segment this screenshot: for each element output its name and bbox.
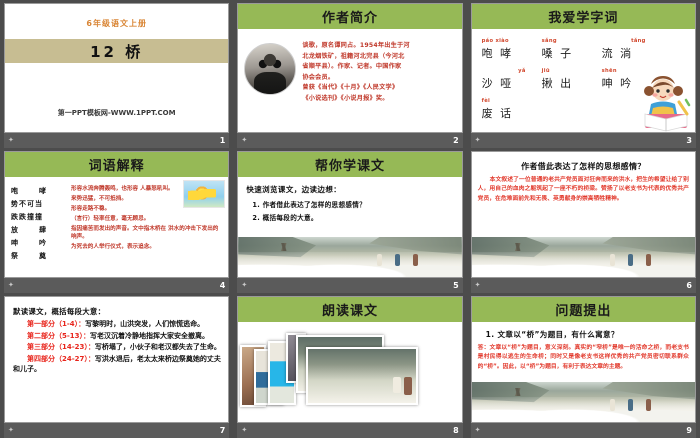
instruction-text: 快速浏览课文，边读边想： bbox=[246, 184, 453, 195]
slide-3-footer: ✦ 3 bbox=[471, 133, 696, 148]
slide-6-theme-answer[interactable]: 作者借此表达了怎样的思想感情？ 本文叙述了一位普通的老共产党员面对狂奔而来的洪水… bbox=[471, 151, 696, 278]
photo-thumb-front bbox=[306, 347, 418, 405]
slide-3-vocabulary[interactable]: 我爱学字词 páo xiào 咆 哮 sǎng 嗓 子 tǎng 流 淌 bbox=[471, 3, 696, 133]
wave-shape bbox=[238, 252, 461, 277]
slide-number: 5 bbox=[453, 282, 459, 290]
definition: 指因痛苦而发出的声音。文中指木桥在 洪水的冲击下发出的响声。 bbox=[71, 226, 223, 241]
part-text: 写桥塌了，小伙子和老汉都失去了生命。 bbox=[95, 343, 221, 351]
vocab-word: 废 话 bbox=[482, 105, 524, 121]
vocab-item: shēn 呻 吟 bbox=[602, 68, 644, 91]
instruction-text: 默读课文，概括每段大意： bbox=[13, 306, 221, 317]
slide-cell-1[interactable]: 6年级语文上册 12 桥 第一PPT模板网-WWW.1PPT.COM ✦ 1 bbox=[0, 0, 233, 148]
person-figure bbox=[646, 399, 651, 411]
vocab-item: páo xiào 咆 哮 bbox=[482, 38, 524, 61]
girl-reading-icon bbox=[639, 74, 693, 132]
slide-5-study-guide[interactable]: 帮你学课文 快速浏览课文，边读边想： 1. 作者借此表达了怎样的思想感情？ 2.… bbox=[237, 151, 462, 278]
person-figure bbox=[628, 254, 633, 266]
bio-line: 《小说选刊》《小说月报》奖。 bbox=[302, 94, 455, 104]
outline-item: 第一部分（1-4）：写黎明时，山洪突发，人们惊慌逃命。 bbox=[13, 319, 221, 330]
pinyin: tǎng bbox=[604, 38, 646, 44]
answer-paragraph: 答：文章以“桥”为题目，意义深刻。真实的“窄桥”是唯一的活命之桥，而老支书是村民… bbox=[472, 344, 695, 372]
slide-header-title: 我爱学字词 bbox=[548, 7, 618, 26]
person-figure bbox=[610, 399, 615, 411]
branch-shape bbox=[481, 388, 557, 397]
word-term: 祭 奠 bbox=[11, 251, 67, 261]
vocab-item: fèi 废 话 bbox=[482, 98, 524, 121]
word-term: 放 肆 bbox=[11, 225, 67, 235]
star-icon: ✦ bbox=[241, 137, 247, 144]
bio-line: 谈歌，原名谭同占。1954年出生于河 bbox=[302, 41, 455, 51]
vocab-item: jiū 揪 出 bbox=[542, 68, 584, 91]
pinyin: páo xiào bbox=[482, 38, 524, 44]
pinyin: sǎng bbox=[542, 38, 584, 44]
answer-text: 本文叙述了一位普通的老共产党员面对狂奔而来的洪水，把生的希望让给了别人，用自己的… bbox=[478, 176, 689, 204]
slide-subtitle: 6年级语文上册 bbox=[5, 18, 228, 29]
outline-item: 第四部分（24-27）：写洪水退后，老太太来桥边祭奠她的丈夫和儿子。 bbox=[13, 354, 221, 375]
slide-cell-2[interactable]: 作者简介 谈歌，原名谭同占。1954年出生于河 北龙烟铁矿，祖籍河北完县（今河北… bbox=[233, 0, 466, 148]
word-term: 跌跌撞撞 bbox=[11, 212, 67, 222]
word-term: 势不可当 bbox=[11, 199, 67, 209]
slide-number: 3 bbox=[686, 137, 692, 145]
flood-illustration bbox=[238, 237, 461, 277]
vocab-word: 揪 出 bbox=[542, 75, 584, 91]
slide-thumbnail-grid: 6年级语文上册 12 桥 第一PPT模板网-WWW.1PPT.COM ✦ 1 作… bbox=[0, 0, 700, 438]
person-figure bbox=[413, 254, 418, 266]
slide-7-outline[interactable]: 默读课文，概括每段大意： 第一部分（1-4）：写黎明时，山洪突发，人们惊慌逃命。… bbox=[4, 296, 229, 423]
slide-header-band: 问题提出 bbox=[472, 297, 695, 323]
pinyin: shēn bbox=[602, 68, 644, 74]
bio-line: 省顺平县）。作家、记者。中国作家 bbox=[302, 62, 455, 72]
author-bio: 谈歌，原名谭同占。1954年出生于河 北龙烟铁矿，祖籍河北完县（今河北 省顺平县… bbox=[302, 37, 455, 128]
question-item: 2. 概括每段的大意。 bbox=[252, 212, 453, 222]
part-label: 第一部分（1-4）： bbox=[27, 320, 85, 328]
pinyin: fèi bbox=[482, 98, 524, 104]
question-text: 1. 文章以“桥”为题目，有什么寓意？ bbox=[486, 329, 687, 340]
definition: （言行）轻率任意，毫无顾忌。 bbox=[71, 216, 223, 224]
slide-cell-3[interactable]: 我爱学字词 páo xiào 咆 哮 sǎng 嗓 子 tǎng 流 淌 bbox=[467, 0, 700, 148]
photo-stack bbox=[238, 323, 461, 422]
vocab-item: tǎng 流 淌 bbox=[602, 38, 644, 61]
vocab-word: 咆 哮 bbox=[482, 45, 524, 61]
pinyin: yǎ bbox=[484, 68, 526, 74]
vocab-word: 流 淌 bbox=[602, 45, 644, 61]
slide-9-question[interactable]: 问题提出 1. 文章以“桥”为题目，有什么寓意？ 答：文章以“桥”为题目，意义深… bbox=[471, 296, 696, 423]
star-icon: ✦ bbox=[8, 282, 14, 289]
slide-number: 2 bbox=[453, 137, 459, 145]
person-figure bbox=[610, 254, 615, 266]
pinyin: jiū bbox=[542, 68, 584, 74]
vocab-word: 沙 哑 bbox=[482, 75, 524, 91]
slide-header-band: 词语解释 bbox=[5, 152, 228, 178]
vocab-word: 嗓 子 bbox=[542, 45, 584, 61]
vocab-item: sǎng 嗓 子 bbox=[542, 38, 584, 61]
slide-number: 7 bbox=[220, 427, 226, 435]
person-figure bbox=[377, 254, 382, 266]
slide-cell-4[interactable]: 词语解释 咆 哮 势不可当 跌跌撞撞 放 肆 呻 吟 祭 奠 形容水流奔腾轰鸣，… bbox=[0, 148, 233, 293]
star-icon: ✦ bbox=[241, 282, 247, 289]
part-label: 第四部分（24-27）： bbox=[27, 355, 95, 363]
slide-number: 4 bbox=[220, 282, 226, 290]
vocab-row: páo xiào 咆 哮 sǎng 嗓 子 tǎng 流 淌 bbox=[482, 38, 689, 61]
answer-text: 答：文章以“桥”为题目，意义深刻。真实的“窄桥”是唯一的活命之桥，而老支书是村民… bbox=[478, 345, 689, 370]
word-term: 咆 哮 bbox=[11, 186, 67, 196]
star-icon: ✦ bbox=[475, 282, 481, 289]
answer-paragraph: 本文叙述了一位普通的老共产党员面对狂奔而来的洪水，把生的希望让给了别人，用自己的… bbox=[472, 176, 695, 204]
branch-shape bbox=[481, 243, 557, 252]
slide-2-footer: ✦ 2 bbox=[237, 133, 462, 148]
flood-illustration bbox=[472, 237, 695, 277]
flood-illustration bbox=[472, 382, 695, 422]
part-label: 第二部分（5-13）： bbox=[27, 332, 90, 340]
star-icon: ✦ bbox=[8, 137, 14, 144]
outline-item: 第三部分（14-23）：写桥塌了，小伙子和老汉都失去了生命。 bbox=[13, 342, 221, 353]
slide-header-title: 词语解释 bbox=[89, 155, 145, 174]
slide-2-author[interactable]: 作者简介 谈歌，原名谭同占。1954年出生于河 北龙烟铁矿，祖籍河北完县（今河北… bbox=[237, 3, 462, 133]
slide-header-band: 作者简介 bbox=[238, 4, 461, 30]
slide-header-title: 问题提出 bbox=[555, 300, 611, 319]
vocab-word: 呻 吟 bbox=[602, 75, 644, 91]
word-column: 咆 哮 势不可当 跌跌撞撞 放 肆 呻 吟 祭 奠 bbox=[11, 184, 67, 274]
slide-number: 8 bbox=[453, 427, 459, 435]
slide-4-footer: ✦ 4 bbox=[4, 278, 229, 293]
person-figure bbox=[395, 254, 400, 266]
slide-number: 9 bbox=[686, 427, 692, 435]
slide-7-footer: ✦ 7 bbox=[4, 423, 229, 438]
slide-header-title: 帮你学课文 bbox=[315, 155, 385, 174]
slide-cell-5[interactable]: 帮你学课文 快速浏览课文，边读边想： 1. 作者借此表达了怎样的思想感情？ 2.… bbox=[233, 148, 466, 293]
slide-cell-7[interactable]: 默读课文，概括每段大意： 第一部分（1-4）：写黎明时，山洪突发，人们惊慌逃命。… bbox=[0, 293, 233, 438]
page-title: 12 桥 bbox=[90, 41, 143, 62]
wave-shape bbox=[472, 252, 695, 277]
slide-1-title[interactable]: 6年级语文上册 12 桥 第一PPT模板网-WWW.1PPT.COM bbox=[4, 3, 229, 133]
star-icon: ✦ bbox=[241, 427, 247, 434]
question-item: 1. 作者借此表达了怎样的思想感情？ bbox=[252, 199, 453, 209]
slide-1-footer: ✦ 1 bbox=[4, 133, 229, 148]
word-term: 呻 吟 bbox=[11, 238, 67, 248]
slide-cell-6[interactable]: 作者借此表达了怎样的思想感情？ 本文叙述了一位普通的老共产党员面对狂奔而来的洪水… bbox=[467, 148, 700, 293]
slide-8-footer: ✦ 8 bbox=[237, 423, 462, 438]
person-figure bbox=[646, 254, 651, 266]
slide-cell-9[interactable]: 问题提出 1. 文章以“桥”为题目，有什么寓意？ 答：文章以“桥”为题目，意义深… bbox=[467, 293, 700, 438]
person-figure bbox=[628, 399, 633, 411]
outline-item: 第二部分（5-13）：写老汉沉着冷静地指挥大家安全撤离。 bbox=[13, 331, 221, 342]
branch-shape bbox=[247, 243, 323, 252]
part-text: 写黎明时，山洪突发，人们惊慌逃命。 bbox=[85, 320, 204, 328]
slide-9-footer: ✦ 9 bbox=[471, 423, 696, 438]
slide-8-read-aloud[interactable]: 朗读课文 bbox=[237, 296, 462, 423]
sunflower-image bbox=[183, 180, 225, 208]
slide-5-footer: ✦ 5 bbox=[237, 278, 462, 293]
star-icon: ✦ bbox=[475, 427, 481, 434]
bio-line: 北龙烟铁矿，祖籍河北完县（今河北 bbox=[302, 52, 455, 62]
slide-header-band: 帮你学课文 bbox=[238, 152, 461, 178]
slide-6-footer: ✦ 6 bbox=[471, 278, 696, 293]
definition: 为死去的人举行仪式，表示追念。 bbox=[71, 244, 223, 252]
watermark: 第一PPT模板网-WWW.1PPT.COM bbox=[5, 108, 228, 118]
bio-line: 曾获《当代》《十月》《人民文学》 bbox=[302, 83, 455, 93]
part-text: 写老汉沉着冷静地指挥大家安全撤离。 bbox=[90, 332, 209, 340]
slide-number: 1 bbox=[220, 137, 226, 145]
vocab-item: yǎ 沙 哑 bbox=[482, 68, 524, 91]
slide-4-word-explanation[interactable]: 词语解释 咆 哮 势不可当 跌跌撞撞 放 肆 呻 吟 祭 奠 形容水流奔腾轰鸣，… bbox=[4, 151, 229, 278]
star-icon: ✦ bbox=[8, 427, 14, 434]
wave-shape bbox=[472, 397, 695, 422]
star-icon: ✦ bbox=[475, 137, 481, 144]
slide-cell-8[interactable]: 朗读课文 ✦ 8 bbox=[233, 293, 466, 438]
author-portrait bbox=[244, 43, 296, 95]
slide-header-title: 朗读课文 bbox=[322, 300, 378, 319]
slide-number: 6 bbox=[686, 282, 692, 290]
slide-header-title: 作者简介 bbox=[322, 7, 378, 26]
slide-header-band: 朗读课文 bbox=[238, 297, 461, 323]
bio-line: 协会会员。 bbox=[302, 73, 455, 83]
title-band: 12 桥 bbox=[5, 39, 228, 63]
part-label: 第三部分（14-23）： bbox=[27, 343, 95, 351]
slide-question-title: 作者借此表达了怎样的思想感情？ bbox=[472, 161, 695, 172]
slide-header-band: 我爱学字词 bbox=[472, 4, 695, 30]
